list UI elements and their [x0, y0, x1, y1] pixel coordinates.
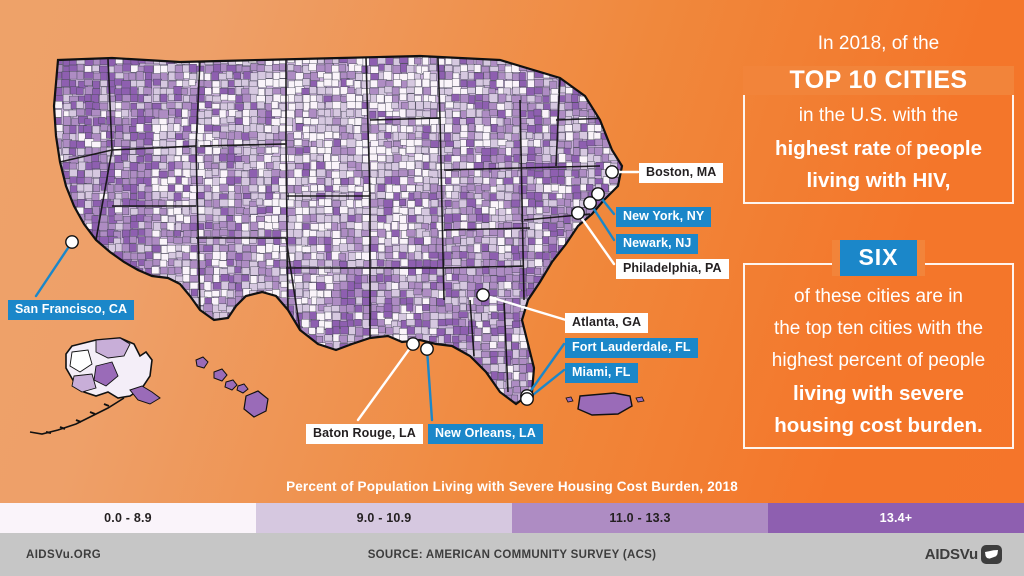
- city-label-miami-fl[interactable]: Miami, FL: [565, 363, 638, 383]
- callout-two-line1: of these cities are in: [743, 285, 1014, 309]
- callout-one-line4: living with HIV,: [743, 168, 1014, 194]
- legend-band-1: 0.0 - 8.9: [0, 503, 256, 533]
- footer-site-link[interactable]: AIDSVu.ORG: [26, 549, 101, 561]
- city-dot-marker: [521, 393, 533, 405]
- legend-band-4: 13.4+: [768, 503, 1024, 533]
- city-label-new-york-ny[interactable]: New York, NY: [616, 207, 711, 227]
- city-label-baton-rouge-la[interactable]: Baton Rouge, LA: [306, 424, 423, 444]
- callout-one-line3-bold-b: people: [916, 137, 982, 160]
- aidsvu-logo-text: AIDSVu: [925, 546, 978, 563]
- callout-column: In 2018, of the TOP 10 CITIES in the U.S…: [733, 0, 1024, 470]
- six-badge: SIX: [840, 240, 916, 276]
- map-counties: [30, 49, 644, 435]
- legend-band-3: 11.0 - 13.3: [512, 503, 768, 533]
- city-label-new-orleans-la[interactable]: New Orleans, LA: [428, 424, 543, 444]
- callout-one-line3-reg: of: [896, 139, 912, 160]
- legend-band-2: 9.0 - 10.9: [256, 503, 512, 533]
- map-panel: San Francisco, CABoston, MANew York, NYN…: [0, 0, 730, 470]
- city-label-newark-nj[interactable]: Newark, NJ: [616, 234, 698, 254]
- city-label-fort-lauderdale-fl[interactable]: Fort Lauderdale, FL: [565, 338, 698, 358]
- city-label-atlanta-ga[interactable]: Atlanta, GA: [565, 313, 648, 333]
- callout-two-line5: housing cost burden.: [743, 413, 1014, 439]
- callout-one-line2: in the U.S. with the: [743, 104, 1014, 128]
- aidsvu-logo[interactable]: AIDSVu: [925, 545, 1002, 564]
- city-dot-marker: [477, 289, 489, 301]
- footer-source-text: SOURCE: AMERICAN COMMUNITY SURVEY (ACS): [0, 549, 1024, 561]
- us-map-logo-icon: [981, 545, 1002, 564]
- city-label-san-francisco-ca[interactable]: San Francisco, CA: [8, 300, 134, 320]
- city-dot-marker: [584, 197, 596, 209]
- city-label-boston-ma[interactable]: Boston, MA: [639, 163, 723, 183]
- callout-two-line3: highest percent of people: [743, 349, 1014, 373]
- alaska-inset: [30, 338, 160, 434]
- city-dot-marker: [606, 166, 618, 178]
- city-dot-marker: [66, 236, 78, 248]
- hawaii-inset: [196, 357, 268, 417]
- footer-bar: SOURCE: AMERICAN COMMUNITY SURVEY (ACS) …: [0, 533, 1024, 576]
- puerto-rico-inset: [566, 393, 644, 415]
- city-dot-marker: [421, 343, 433, 355]
- callout-two-line2: the top ten cities with the: [743, 317, 1014, 341]
- callout-one-line1: In 2018, of the: [743, 32, 1014, 56]
- infographic-root: San Francisco, CABoston, MANew York, NYN…: [0, 0, 1024, 576]
- callout-two-line4: living with severe: [743, 381, 1014, 407]
- callout-one-line3-bold-a: highest rate: [775, 137, 891, 160]
- city-dot-marker: [572, 207, 584, 219]
- legend-swatch-row: 0.0 - 8.99.0 - 10.911.0 - 13.313.4+: [0, 503, 1024, 533]
- callout-one-headline: TOP 10 CITIES: [780, 66, 978, 95]
- city-dot-marker: [407, 338, 419, 350]
- legend-title: Percent of Population Living with Severe…: [0, 470, 1024, 503]
- city-label-philadelphia-pa[interactable]: Philadelphia, PA: [616, 259, 729, 279]
